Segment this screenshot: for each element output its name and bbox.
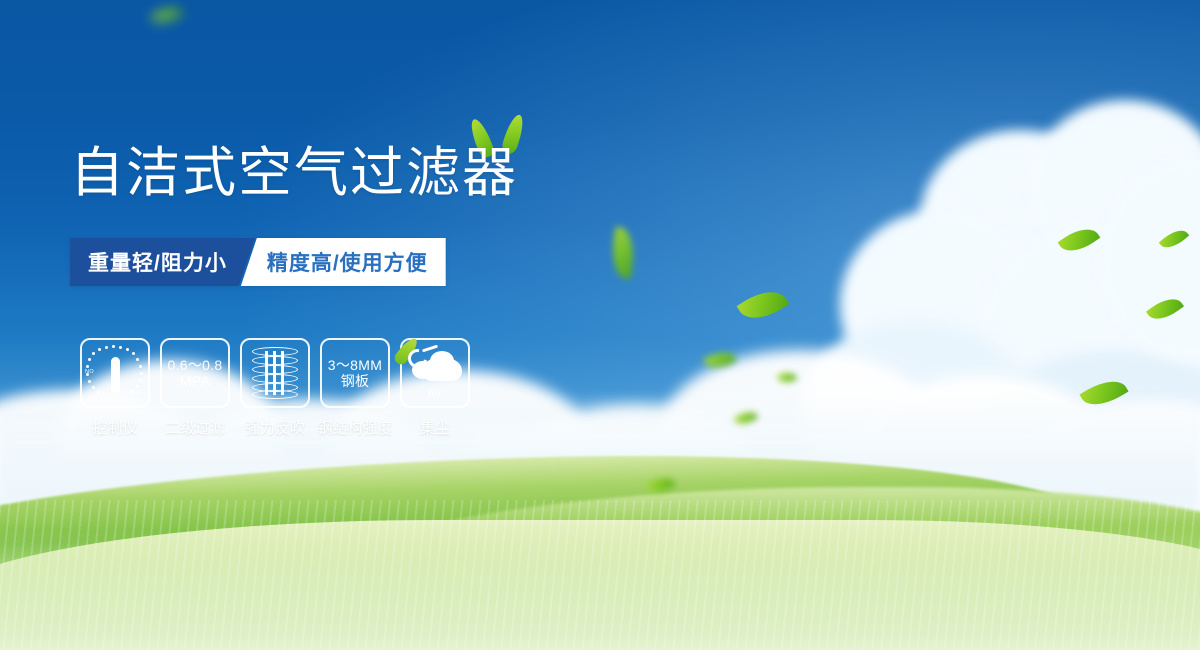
- feature-caption: 强力反吹: [245, 417, 305, 438]
- grass-highlight: [0, 530, 1200, 650]
- feature-item-blowback[interactable]: 强力反吹: [240, 338, 310, 438]
- subtitle-tag-left: 重量轻/阻力小: [70, 238, 255, 286]
- page-title: 自洁式空气过滤器: [70, 146, 518, 200]
- feature-tile: [240, 338, 310, 408]
- pressure-value-line2: MPA: [180, 373, 210, 389]
- gauge-needle: [111, 357, 120, 393]
- pressure-value-line1: 0.6～0.8: [167, 357, 222, 373]
- steel-value-line2: 钢板: [341, 373, 370, 389]
- feature-item-steel[interactable]: 3～8MM 钢板 钢结构强度: [320, 338, 390, 438]
- gauge-label-off: OFF: [130, 390, 142, 396]
- feature-caption: 集尘: [420, 417, 450, 438]
- gauge-label-on: NO: [85, 369, 94, 375]
- gauge-icon: NO OFF: [86, 345, 144, 401]
- feature-item-controller[interactable]: NO OFF 控制仪: [80, 338, 150, 438]
- grass-field: [0, 450, 1200, 650]
- feature-item-dust[interactable]: Air 集尘: [400, 338, 470, 438]
- promo-banner: 自洁式空气过滤器 重量轻/阻力小 精度高/使用方便: [0, 0, 1200, 650]
- feature-caption: 二级过滤: [165, 417, 225, 438]
- feature-list: NO OFF 控制仪 0.6～0.8 MPA 二级过滤: [80, 338, 470, 438]
- steel-value-line1: 3～8MM: [328, 357, 382, 373]
- feature-caption: 钢结构强度: [318, 417, 393, 438]
- subtitle-bar: 重量轻/阻力小 精度高/使用方便: [70, 238, 446, 286]
- feature-tile: Air: [400, 338, 470, 408]
- feature-tile: NO OFF: [80, 338, 150, 408]
- feature-tile: 3～8MM 钢板: [320, 338, 390, 408]
- air-label: Air: [428, 388, 443, 400]
- subtitle-tag-right: 精度高/使用方便: [241, 238, 446, 286]
- coil-icon: [252, 347, 298, 399]
- feature-caption: 控制仪: [92, 417, 137, 438]
- feature-tile: 0.6～0.8 MPA: [160, 338, 230, 408]
- feature-item-pressure[interactable]: 0.6～0.8 MPA 二级过滤: [160, 338, 230, 438]
- air-cloud-icon: [408, 347, 462, 387]
